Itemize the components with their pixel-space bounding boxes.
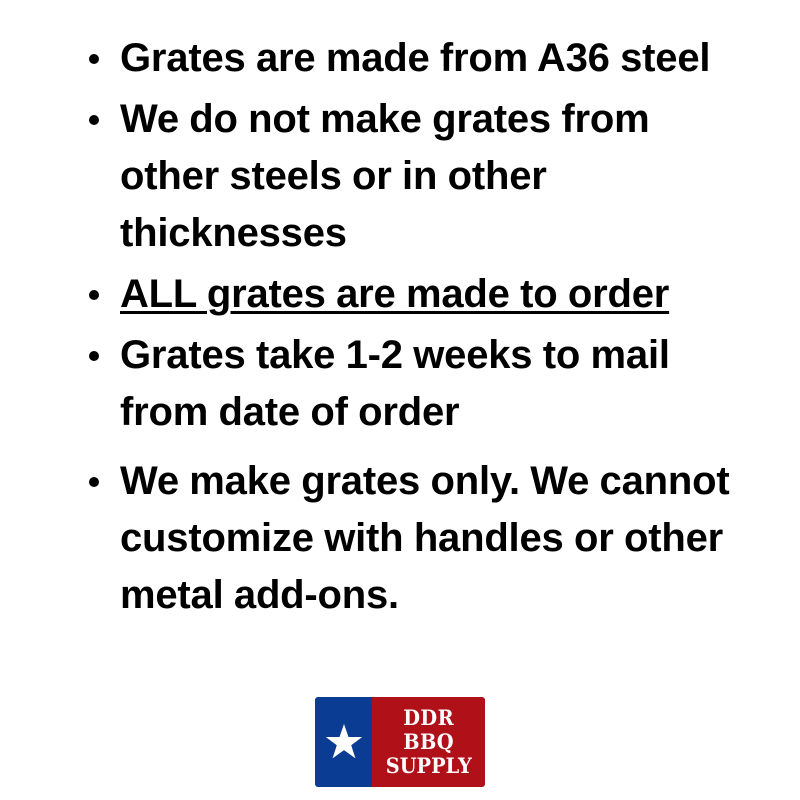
ddr-bbq-supply-logo: DDR BBQ SUPPLY [315, 697, 485, 787]
bullet-dot-icon [89, 290, 99, 300]
page-root: Grates are made from A36 steel We do not… [0, 0, 800, 800]
bullet-dot-icon [89, 351, 99, 361]
bullet-dot-icon [89, 115, 99, 125]
list-item-label: We make grates only. We cannot customize… [120, 459, 729, 617]
star-icon [325, 723, 363, 761]
list-item: We do not make grates from other steels … [84, 91, 756, 262]
logo-text-line-2: BBQ [403, 731, 454, 752]
list-item-label: Grates are made from A36 steel [120, 36, 710, 80]
list-item: Grates take 1-2 weeks to mail from date … [84, 327, 756, 441]
logo-text-line-3: SUPPLY [385, 755, 471, 776]
bullet-dot-icon [89, 477, 99, 487]
list-item-label: We do not make grates from other steels … [120, 97, 649, 255]
bullet-dot-icon [89, 54, 99, 64]
logo-text-line-1: DDR [403, 707, 454, 728]
list-item: Grates are made from A36 steel [84, 30, 756, 87]
list-item: ALL grates are made to order [84, 266, 756, 323]
policy-bullet-list: Grates are made from A36 steel We do not… [84, 30, 756, 624]
logo-blue-panel [315, 697, 372, 787]
list-item-label: ALL grates are made to order [120, 272, 669, 316]
list-item-label: Grates take 1-2 weeks to mail from date … [120, 333, 670, 434]
logo-red-panel: DDR BBQ SUPPLY [372, 697, 485, 787]
list-item: We make grates only. We cannot customize… [84, 453, 756, 624]
